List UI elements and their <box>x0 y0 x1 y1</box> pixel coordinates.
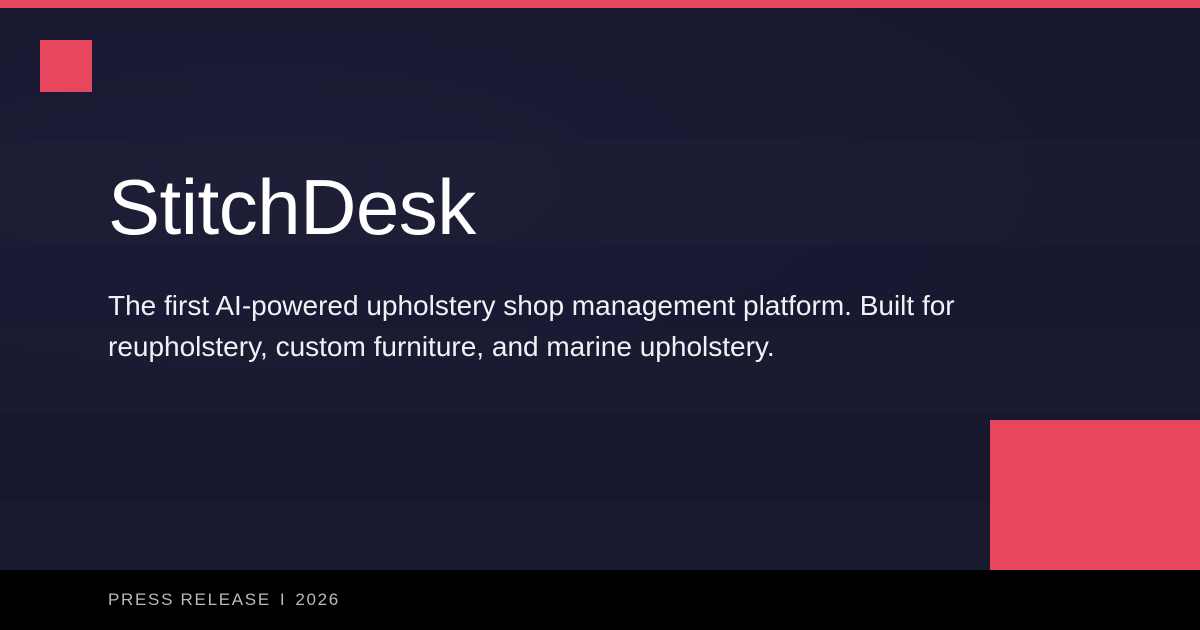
page-title: StitchDesk <box>108 168 476 246</box>
footer-bar: PRESS RELEASE I 2026 <box>0 570 1200 630</box>
footer-separator: I <box>280 590 286 610</box>
accent-block <box>990 420 1200 570</box>
press-release-card: StitchDesk The first AI-powered upholste… <box>0 0 1200 630</box>
footer-meta: PRESS RELEASE I 2026 <box>108 590 340 610</box>
logo-mark-icon <box>40 40 92 92</box>
top-accent-bar <box>0 0 1200 8</box>
footer-year: 2026 <box>295 590 340 610</box>
page-subtitle: The first AI-powered upholstery shop man… <box>108 285 1008 367</box>
footer-label: PRESS RELEASE <box>108 590 271 610</box>
